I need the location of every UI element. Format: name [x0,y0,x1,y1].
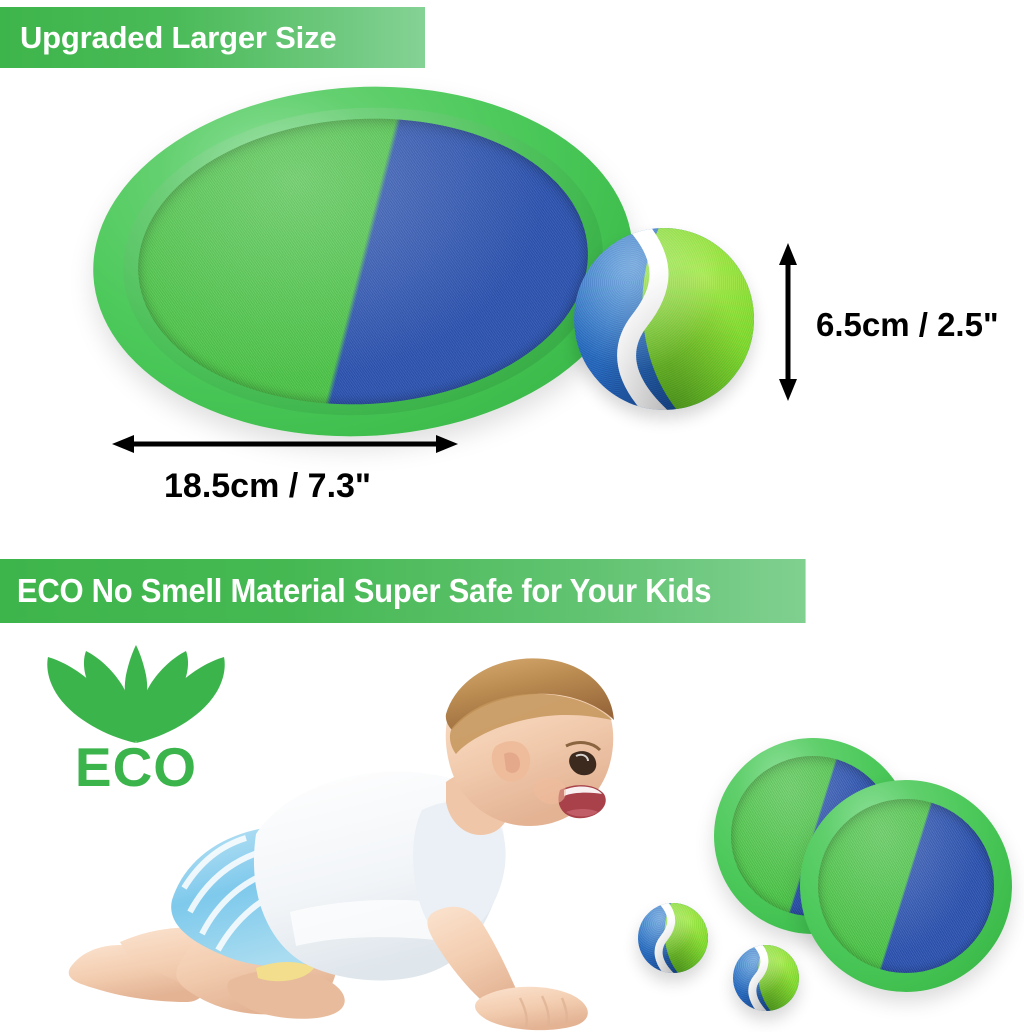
catch-ball-small-1 [638,903,708,973]
width-dimension-arrow-icon [112,432,458,456]
catch-ball-small-2 [733,945,799,1011]
baby-hand [475,987,588,1030]
banner-eco-no-smell-material: ECO No Smell Material Super Safe for You… [0,559,806,623]
banner-eco-label: ECO No Smell Material Super Safe for You… [17,572,711,610]
paddle-width-label: 18.5cm / 7.3" [164,467,371,506]
ball-highlight [574,228,754,410]
ball-height-label: 6.5cm / 2.5" [816,306,999,344]
paddle-velcro-fabric [818,799,994,973]
banner-upgraded-larger-size: Upgraded Larger Size [0,7,425,68]
ball-highlight [638,903,708,973]
catch-paddle-disc-large [93,87,633,436]
ball-highlight [733,945,799,1011]
paddle-velcro-fabric [131,108,596,416]
crawling-baby-photo [60,650,620,1032]
catch-ball-large [574,228,754,410]
banner-upgraded-label: Upgraded Larger Size [20,20,336,56]
height-dimension-arrow-icon [776,243,800,401]
product-set-paddles-and-balls [620,730,1024,1032]
catch-paddle-disc-front [800,780,1012,992]
